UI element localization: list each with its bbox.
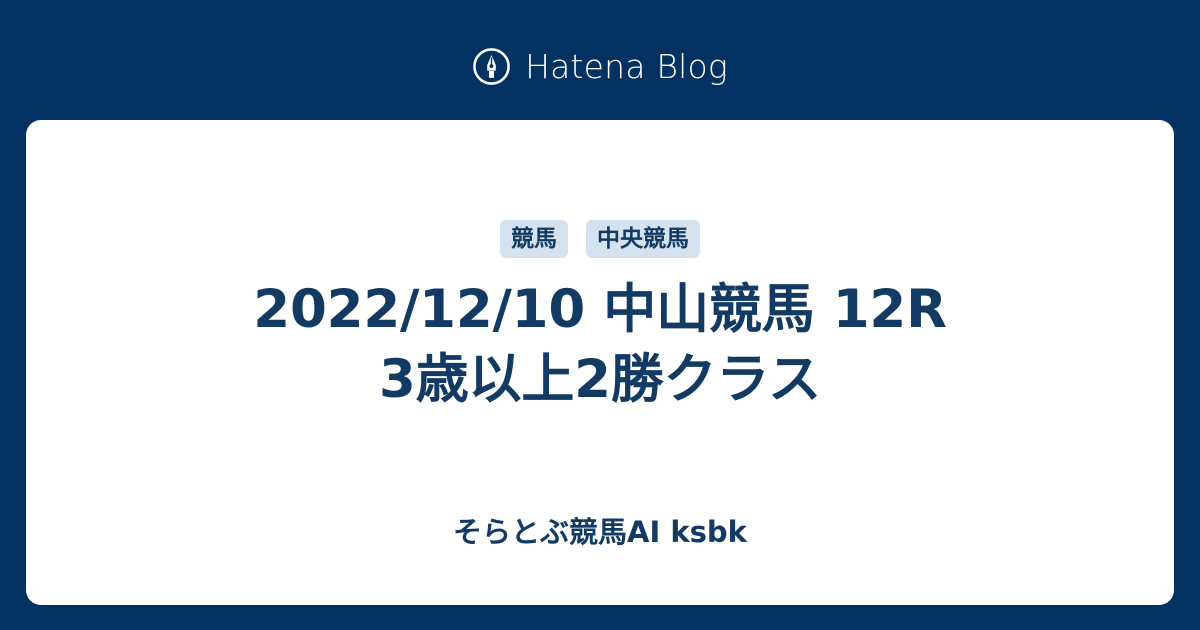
hatena-blog-brand: Hatena Blog (0, 40, 1200, 92)
entry-tag-keiba[interactable]: 競馬 (500, 220, 568, 258)
entry-tag-list: 競馬 中央競馬 (500, 220, 700, 258)
entry-title-line-1: 2022/12/10 中山競馬 12R (253, 279, 946, 340)
hatena-blog-wordmark: Hatena Blog (525, 50, 728, 83)
entry-tag-chuo-keiba[interactable]: 中央競馬 (586, 220, 700, 258)
entry-title: 2022/12/10 中山競馬 12R 3歳以上2勝クラス (26, 275, 1174, 415)
blog-name: そらとぶ競馬AI ksbk (26, 515, 1174, 550)
entry-title-line-2: 3歳以上2勝クラス (379, 349, 821, 410)
og-image-card: Hatena Blog 競馬 中央競馬 2022/12/10 中山競馬 12R … (0, 0, 1200, 630)
entry-card: 競馬 中央競馬 2022/12/10 中山競馬 12R 3歳以上2勝クラス そら… (26, 120, 1174, 605)
hatena-pen-nib-circle-icon (472, 47, 511, 86)
